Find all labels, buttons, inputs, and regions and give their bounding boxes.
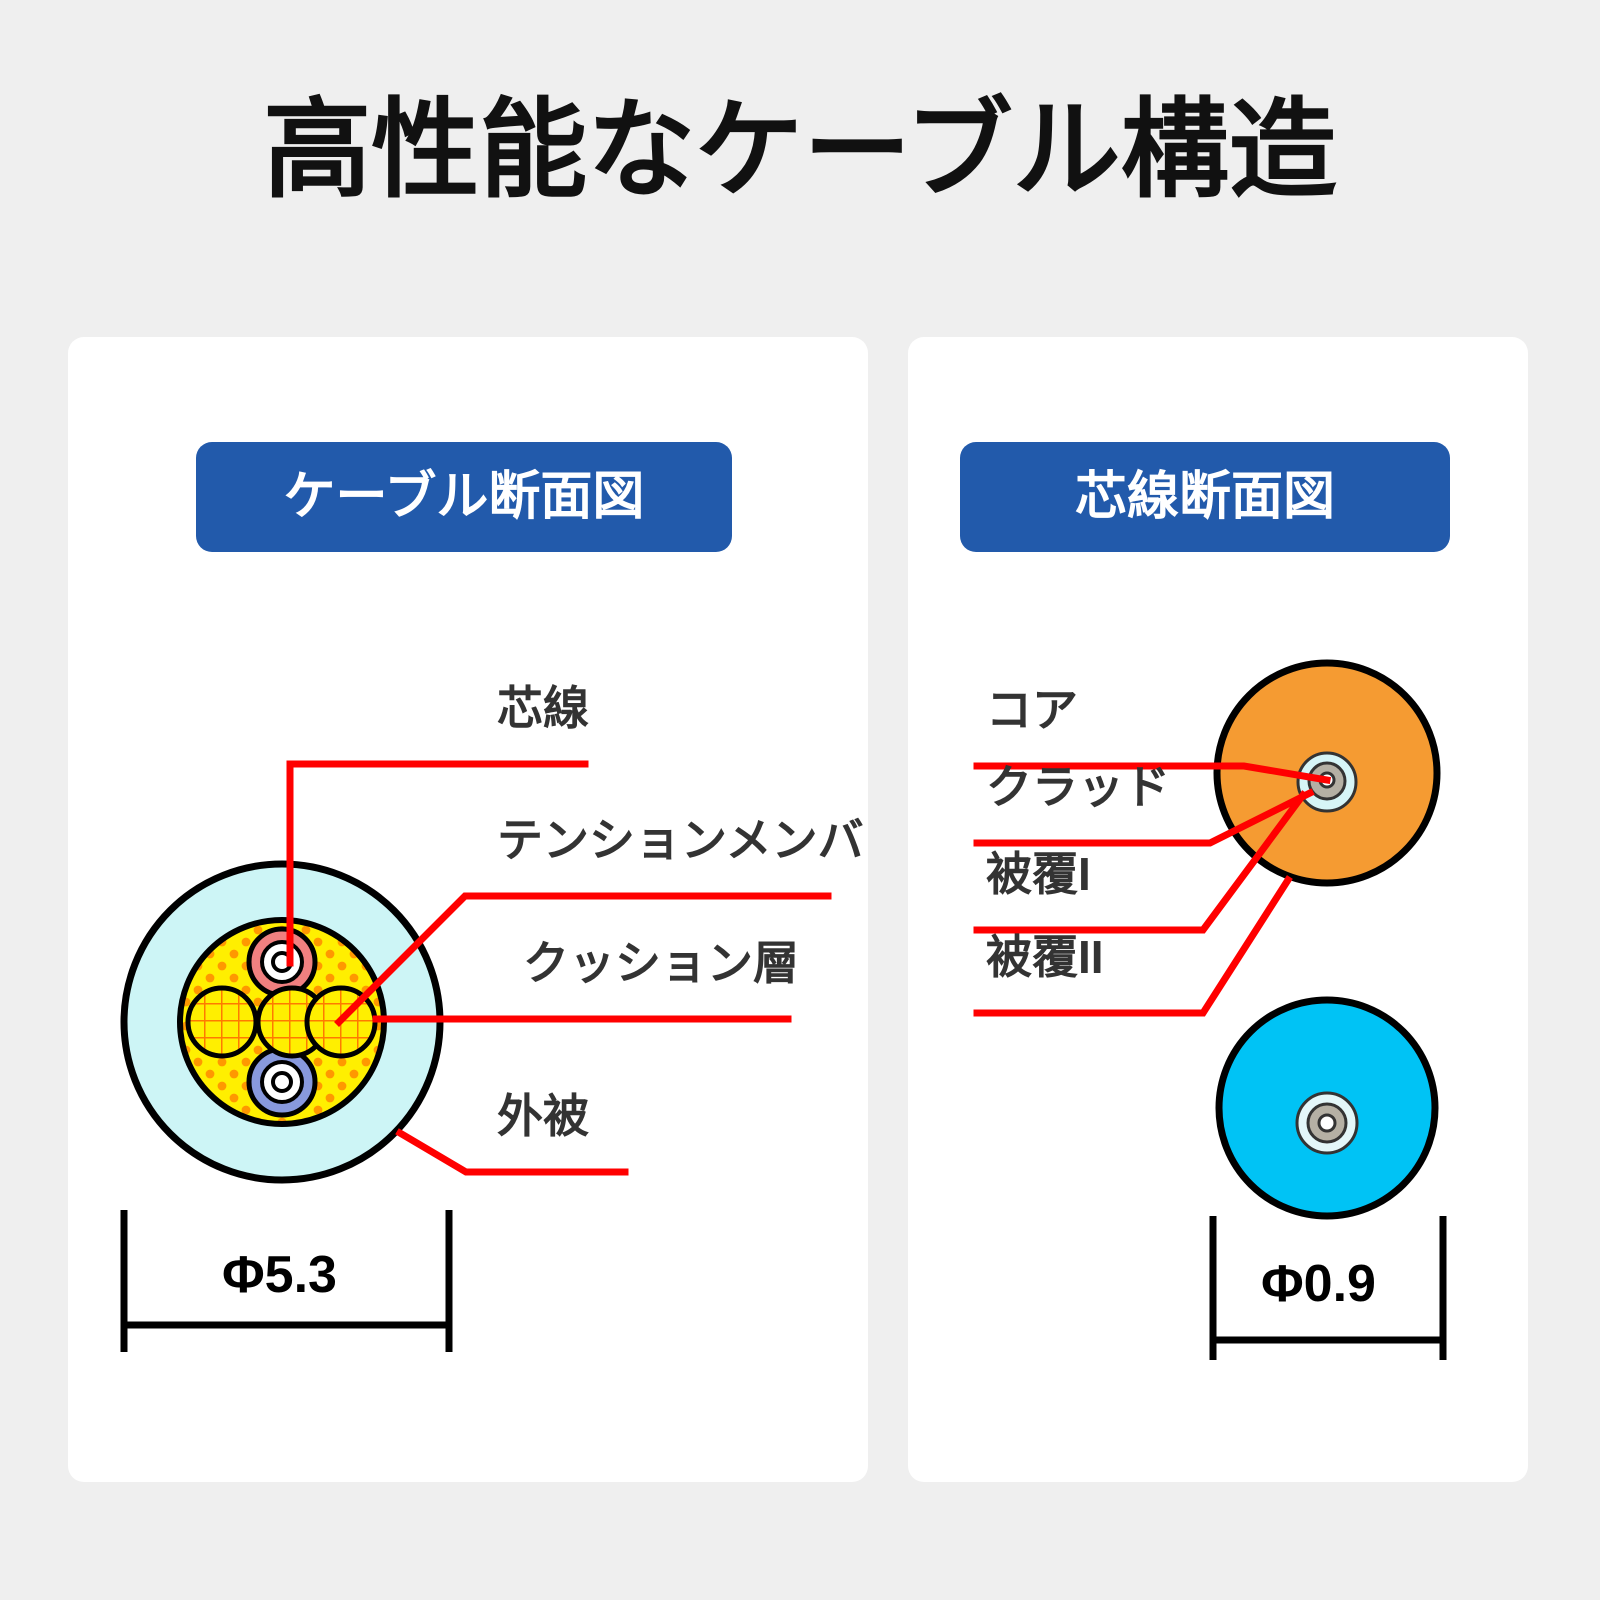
label-clad: クラッド [986,764,1170,810]
dimension-label-cable: Φ5.3 [222,1249,337,1301]
dimension-label-fiber: Φ0.9 [1261,1258,1376,1310]
badge-cable-cross-section: ケーブル断面図 [196,442,732,552]
label-coating-1: 被覆I [986,851,1091,897]
label-core-wire: 芯線 [497,685,589,731]
page-title: 高性能なケーブル構造 [0,0,1600,300]
badge-fiber-cross-section: 芯線断面図 [960,442,1450,552]
label-coating-2: 被覆II [986,934,1104,980]
label-cushion-layer: クッション層 [523,940,799,986]
label-tension-member: テンションメンバ [497,817,864,863]
label-outer-jacket: 外被 [497,1093,589,1139]
label-core: コア [986,687,1078,733]
